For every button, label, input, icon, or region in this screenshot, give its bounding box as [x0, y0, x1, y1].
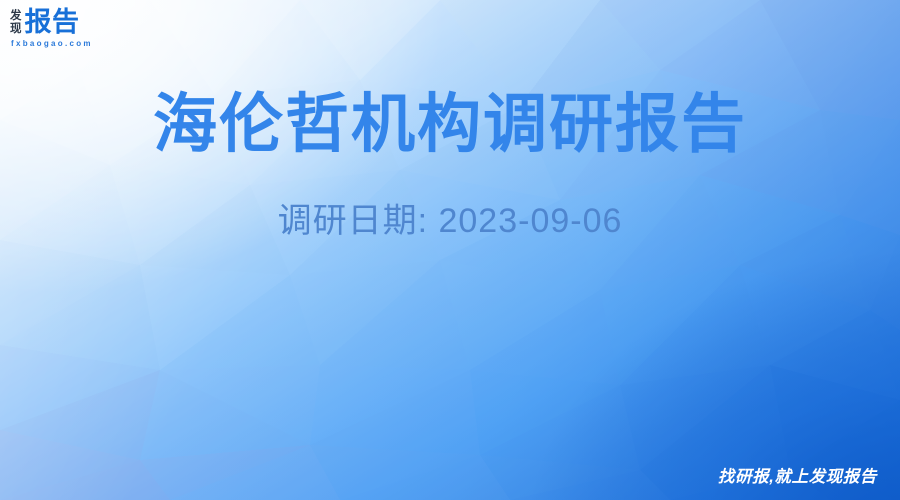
footer-tagline: 找研报,就上发现报告	[718, 463, 877, 487]
logo-wordmark: 报告	[25, 9, 80, 36]
low-poly-background	[0, 0, 900, 500]
logo-stack-top-char: 发	[10, 10, 22, 23]
logo-stack-bottom-char: 现	[10, 23, 22, 36]
logo-wordmark-row: 发 现 报告	[10, 8, 80, 37]
brand-logo[interactable]: 发 现 报告 fxbaogao.com	[10, 8, 93, 48]
report-cover-slide: 发 现 报告 fxbaogao.com 海伦哲机构调研报告 调研日期: 2023…	[0, 0, 900, 500]
logo-stacked-chars: 发 现	[10, 9, 22, 36]
logo-domain-text: fxbaogao.com	[11, 40, 93, 48]
